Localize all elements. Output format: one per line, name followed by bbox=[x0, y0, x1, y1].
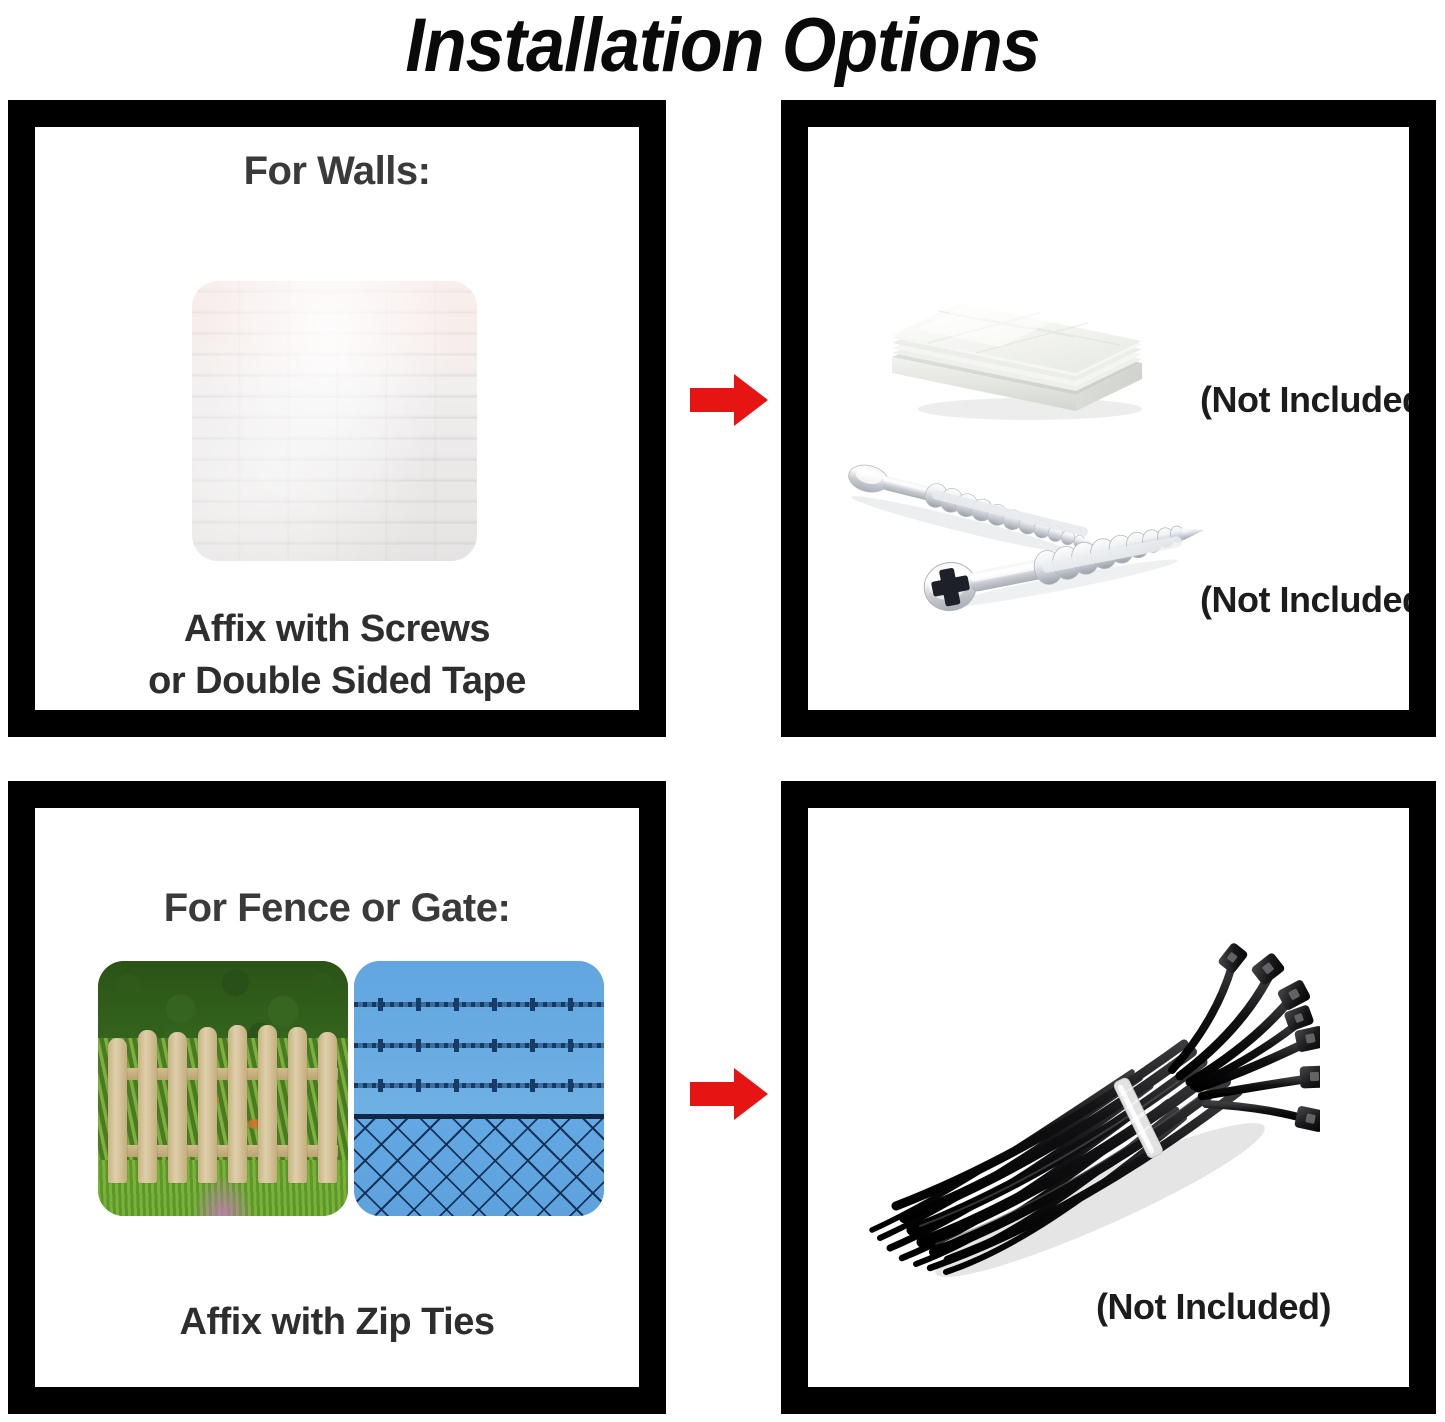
fence-picket bbox=[228, 1025, 247, 1183]
for-fence-caption: Affix with Zip Ties bbox=[35, 1296, 639, 1348]
panel-for-walls-content: For Walls: Affix with Screws or Double S… bbox=[35, 127, 639, 710]
screws-not-included-label: (Not Included) bbox=[1200, 579, 1409, 621]
fence-picket bbox=[138, 1030, 157, 1183]
picket-fence-photo bbox=[98, 961, 348, 1216]
brick-whitewash-overlay bbox=[192, 281, 477, 561]
red-right-arrow-top bbox=[690, 372, 768, 428]
panel-zip-ties-content: (Not Included) bbox=[808, 808, 1409, 1387]
barbed-wire-fence-photo bbox=[354, 961, 604, 1216]
panel-wall-hardware: (Not Included) bbox=[781, 100, 1436, 737]
fence-picket bbox=[168, 1032, 187, 1182]
barbed-wire-strand bbox=[354, 1083, 604, 1088]
barbed-wire-scene bbox=[354, 961, 604, 1216]
fence-picket bbox=[288, 1027, 307, 1183]
for-walls-caption-line-1: Affix with Screws bbox=[35, 603, 639, 655]
page-title: Installation Options bbox=[58, 2, 1387, 90]
chain-link-mesh bbox=[354, 1119, 604, 1216]
fence-picket bbox=[198, 1027, 217, 1183]
wood-screws-image bbox=[838, 457, 1208, 637]
hedge-background bbox=[98, 961, 348, 1048]
fence-picket bbox=[108, 1038, 127, 1183]
barbed-wire-strand bbox=[354, 1043, 604, 1048]
panel-for-walls: For Walls: Affix with Screws or Double S… bbox=[8, 100, 666, 737]
fence-picket bbox=[258, 1025, 277, 1183]
for-fence-caption-line-1: Affix with Zip Ties bbox=[35, 1296, 639, 1348]
red-right-arrow-bottom bbox=[690, 1066, 768, 1122]
for-fence-heading: For Fence or Gate: bbox=[35, 886, 639, 931]
panel-for-fence-content: For Fence or Gate: bbox=[35, 808, 639, 1387]
panel-for-fence-or-gate: For Fence or Gate: bbox=[8, 781, 666, 1414]
panel-zip-ties: (Not Included) bbox=[781, 781, 1436, 1414]
picket-fence-scene bbox=[98, 961, 348, 1216]
for-walls-caption: Affix with Screws or Double Sided Tape bbox=[35, 603, 639, 707]
tape-not-included-label: (Not Included) bbox=[1200, 379, 1409, 421]
panel-wall-hardware-content: (Not Included) bbox=[808, 127, 1409, 710]
fence-picket bbox=[318, 1032, 337, 1182]
double-sided-tape-stack-image bbox=[880, 245, 1148, 425]
white-brick-wall-image bbox=[192, 281, 477, 561]
barbed-wire-strand bbox=[354, 1002, 604, 1007]
black-zip-tie-bundle-image bbox=[850, 900, 1320, 1290]
zipties-not-included-label: (Not Included) bbox=[1096, 1286, 1331, 1328]
for-walls-caption-line-2: or Double Sided Tape bbox=[35, 655, 639, 707]
for-walls-heading: For Walls: bbox=[35, 149, 639, 194]
